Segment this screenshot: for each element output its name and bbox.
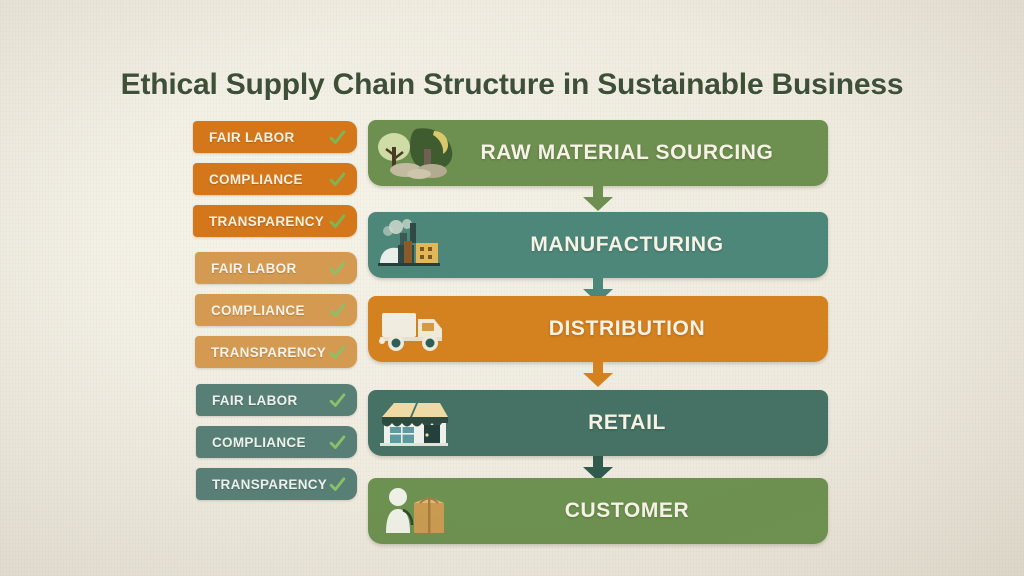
page-title: Ethical Supply Chain Structure in Sustai… — [0, 68, 1024, 102]
check-icon — [329, 476, 346, 493]
flow-stage[interactable]: MANUFACTURING — [368, 212, 828, 278]
flow-arrow-down-icon — [581, 186, 615, 212]
check-icon — [329, 171, 346, 188]
certification-badge[interactable]: FAIR LABOR — [196, 384, 357, 416]
certification-badge[interactable]: COMPLIANCE — [196, 426, 357, 458]
shopper-bag-icon — [376, 483, 462, 539]
certification-badge[interactable]: TRANSPARENCY — [193, 205, 357, 237]
certification-badge[interactable]: TRANSPARENCY — [195, 336, 357, 368]
flow-stage[interactable]: RETAIL — [368, 390, 828, 456]
check-icon — [329, 129, 346, 146]
check-icon — [329, 392, 346, 409]
certification-badge-label: COMPLIANCE — [195, 303, 305, 318]
certification-badge-label: FAIR LABOR — [193, 130, 295, 145]
flow-stage[interactable]: DISTRIBUTION — [368, 296, 828, 362]
factory-icon — [376, 217, 462, 273]
certification-badge-label: COMPLIANCE — [193, 172, 303, 187]
storefront-icon — [376, 395, 462, 451]
certification-badge[interactable]: FAIR LABOR — [195, 252, 357, 284]
certification-badge-label: COMPLIANCE — [196, 435, 306, 450]
check-icon — [329, 302, 346, 319]
certification-badge-label: TRANSPARENCY — [195, 345, 326, 360]
certification-badge[interactable]: COMPLIANCE — [193, 163, 357, 195]
check-icon — [329, 344, 346, 361]
forest-tree-icon — [376, 125, 462, 181]
certification-badge-label: FAIR LABOR — [196, 393, 298, 408]
certification-badge-label: FAIR LABOR — [195, 261, 297, 276]
check-icon — [329, 260, 346, 277]
certification-badge[interactable]: COMPLIANCE — [195, 294, 357, 326]
check-icon — [329, 213, 346, 230]
certification-badge-label: TRANSPARENCY — [193, 214, 324, 229]
flow-stage[interactable]: RAW MATERIAL SOURCING — [368, 120, 828, 186]
certification-badge[interactable]: FAIR LABOR — [193, 121, 357, 153]
delivery-truck-icon — [376, 301, 462, 357]
flow-arrow-down-icon — [581, 362, 615, 388]
certification-badge[interactable]: TRANSPARENCY — [196, 468, 357, 500]
certification-badge-label: TRANSPARENCY — [196, 477, 327, 492]
poster-canvas: Ethical Supply Chain Structure in Sustai… — [0, 0, 1024, 576]
check-icon — [329, 434, 346, 451]
flow-stage[interactable]: CUSTOMER — [368, 478, 828, 544]
